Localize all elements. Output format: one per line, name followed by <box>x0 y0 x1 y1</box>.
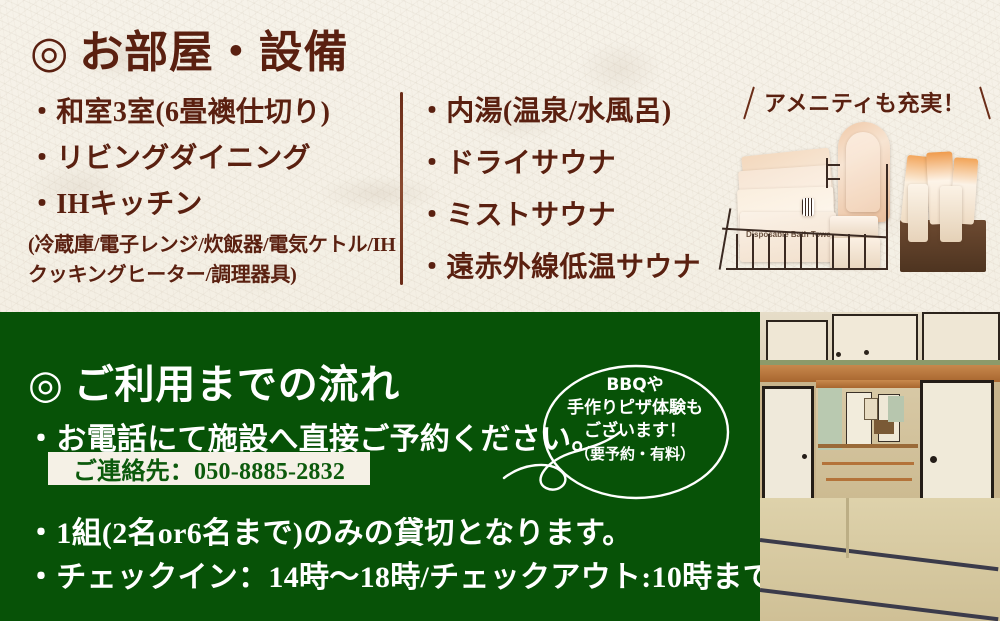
list-item: ・内湯(温泉/水風呂) <box>418 86 701 138</box>
contact-number-text: ご連絡先：050-8885-2832 <box>73 451 345 486</box>
photo-region <box>766 320 828 362</box>
basket-wire <box>736 234 738 270</box>
kitchen-equipment-note: (冷蔵庫/電子レンジ/炊飯器/電気ケトル/IHクッキングヒーター/調理器具) <box>28 230 406 290</box>
photo-region <box>832 314 918 362</box>
tatami-border <box>846 498 849 558</box>
bbq-speech-bubble: BBQや 手作りピザ体験も ございます！ （要予約・有料） <box>488 360 738 530</box>
amenity-item <box>846 132 880 212</box>
tatami-border <box>826 478 912 481</box>
window <box>818 388 842 450</box>
bubble-line: BBQや <box>550 374 720 397</box>
basket-wire <box>826 158 828 188</box>
bubble-line: 手作りピザ体験も <box>550 397 720 420</box>
door-handle <box>836 352 841 357</box>
basket-wire <box>826 164 840 166</box>
flow-section-title: ◎ご利用までの流れ <box>28 352 400 410</box>
photo-region <box>864 398 878 420</box>
photo-region <box>922 312 1000 362</box>
circle-mark-icon: ◎ <box>28 361 64 408</box>
basket-wire <box>784 234 786 270</box>
amenity-item <box>830 238 880 268</box>
bubble-text: BBQや 手作りピザ体験も ございます！ （要予約・有料） <box>550 374 720 466</box>
door-handle <box>930 456 937 463</box>
basket-wire <box>768 234 770 270</box>
rooms-right-list: ・内湯(温泉/水風呂) ・ドライサウナ ・ミストサウナ ・遠赤外線低温サウナ <box>418 86 701 294</box>
basket-wire <box>832 234 834 270</box>
rooms-section: ◎お部屋・設備 ・和室3室(6畳襖仕切り) ・リビングダイニング ・IHキッチン… <box>0 0 1000 312</box>
infographic-page: ◎お部屋・設備 ・和室3室(6畳襖仕切り) ・リビングダイニング ・IHキッチン… <box>0 0 1000 621</box>
furniture <box>874 420 894 434</box>
wood-beam <box>816 380 920 388</box>
basket-wire <box>886 164 888 270</box>
list-item: ・和室3室(6畳襖仕切り) <box>28 90 406 136</box>
basket-wire <box>826 178 840 180</box>
basket-wire <box>726 268 886 270</box>
basket-wire <box>816 234 818 270</box>
list-item: ・IHキッチン <box>28 182 406 228</box>
flow-line-checkin: ・チェックイン：14時〜18時/チェックアウト:10時まで <box>26 552 773 596</box>
basket-wire <box>848 234 850 270</box>
wood-beam <box>760 360 1000 365</box>
tatami-border <box>822 462 914 465</box>
list-item: ・ミストサウナ <box>418 190 701 242</box>
basket-wire <box>800 234 802 270</box>
list-item: ・リビングダイニング <box>28 136 406 182</box>
window <box>888 396 904 422</box>
door-handle <box>864 350 869 355</box>
circle-mark-icon: ◎ <box>30 27 69 78</box>
amenity-item <box>908 184 928 242</box>
rooms-section-title: ◎お部屋・設備 <box>30 16 349 80</box>
fusuma-door <box>920 380 994 512</box>
basket-wire <box>752 234 754 270</box>
list-item: ・ドライサウナ <box>418 138 701 190</box>
flow-title-text: ご利用までの流れ <box>74 362 400 407</box>
tatami-room-photo <box>760 312 1000 621</box>
basket-wire <box>864 234 866 270</box>
bubble-line: ございます！ <box>550 420 720 443</box>
fusuma-door <box>762 386 814 502</box>
bubble-line: （要予約・有料） <box>550 443 720 466</box>
contact-box: ご連絡先：050-8885-2832 <box>48 452 370 485</box>
barcode-icon <box>802 198 814 216</box>
column-divider <box>400 92 403 285</box>
rooms-left-list: ・和室3室(6畳襖仕切り) ・リビングダイニング ・IHキッチン (冷蔵庫/電子… <box>28 90 406 290</box>
amenity-basket-photo: Disposable Bath Towel <box>718 112 1000 302</box>
basket-wire <box>719 208 732 269</box>
tatami-border <box>818 444 918 448</box>
door-handle <box>802 454 807 459</box>
amenity-item <box>940 186 962 242</box>
list-item: ・遠赤外線低温サウナ <box>418 242 701 294</box>
rooms-title-text: お部屋・設備 <box>79 28 348 77</box>
